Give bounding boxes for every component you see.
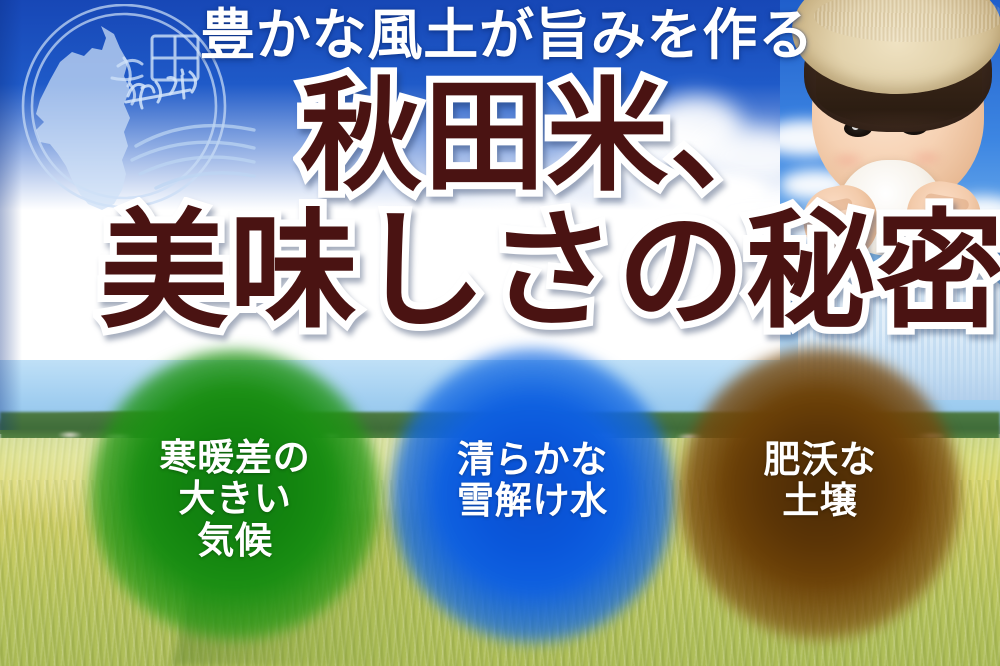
akita-rice-promo-banner: 寒暖差の 大きい 気候 清らかな 雪解け水 肥沃な 土壌 bbox=[0, 0, 1000, 666]
banner-headline-line1: 秋田米、 bbox=[300, 78, 793, 200]
banner-subtitle: 豊かな風土が旨みを作る bbox=[200, 4, 820, 69]
feature-label-water: 清らかな 雪解け水 bbox=[390, 440, 675, 523]
feature-label-soil: 肥沃な 土壌 bbox=[680, 440, 960, 523]
banner-headline-line2: 美味しさの秘密 bbox=[100, 208, 1000, 336]
straw-hat-weave bbox=[814, 0, 1000, 42]
feature-label-climate: 寒暖差の 大きい 気候 bbox=[90, 438, 380, 562]
